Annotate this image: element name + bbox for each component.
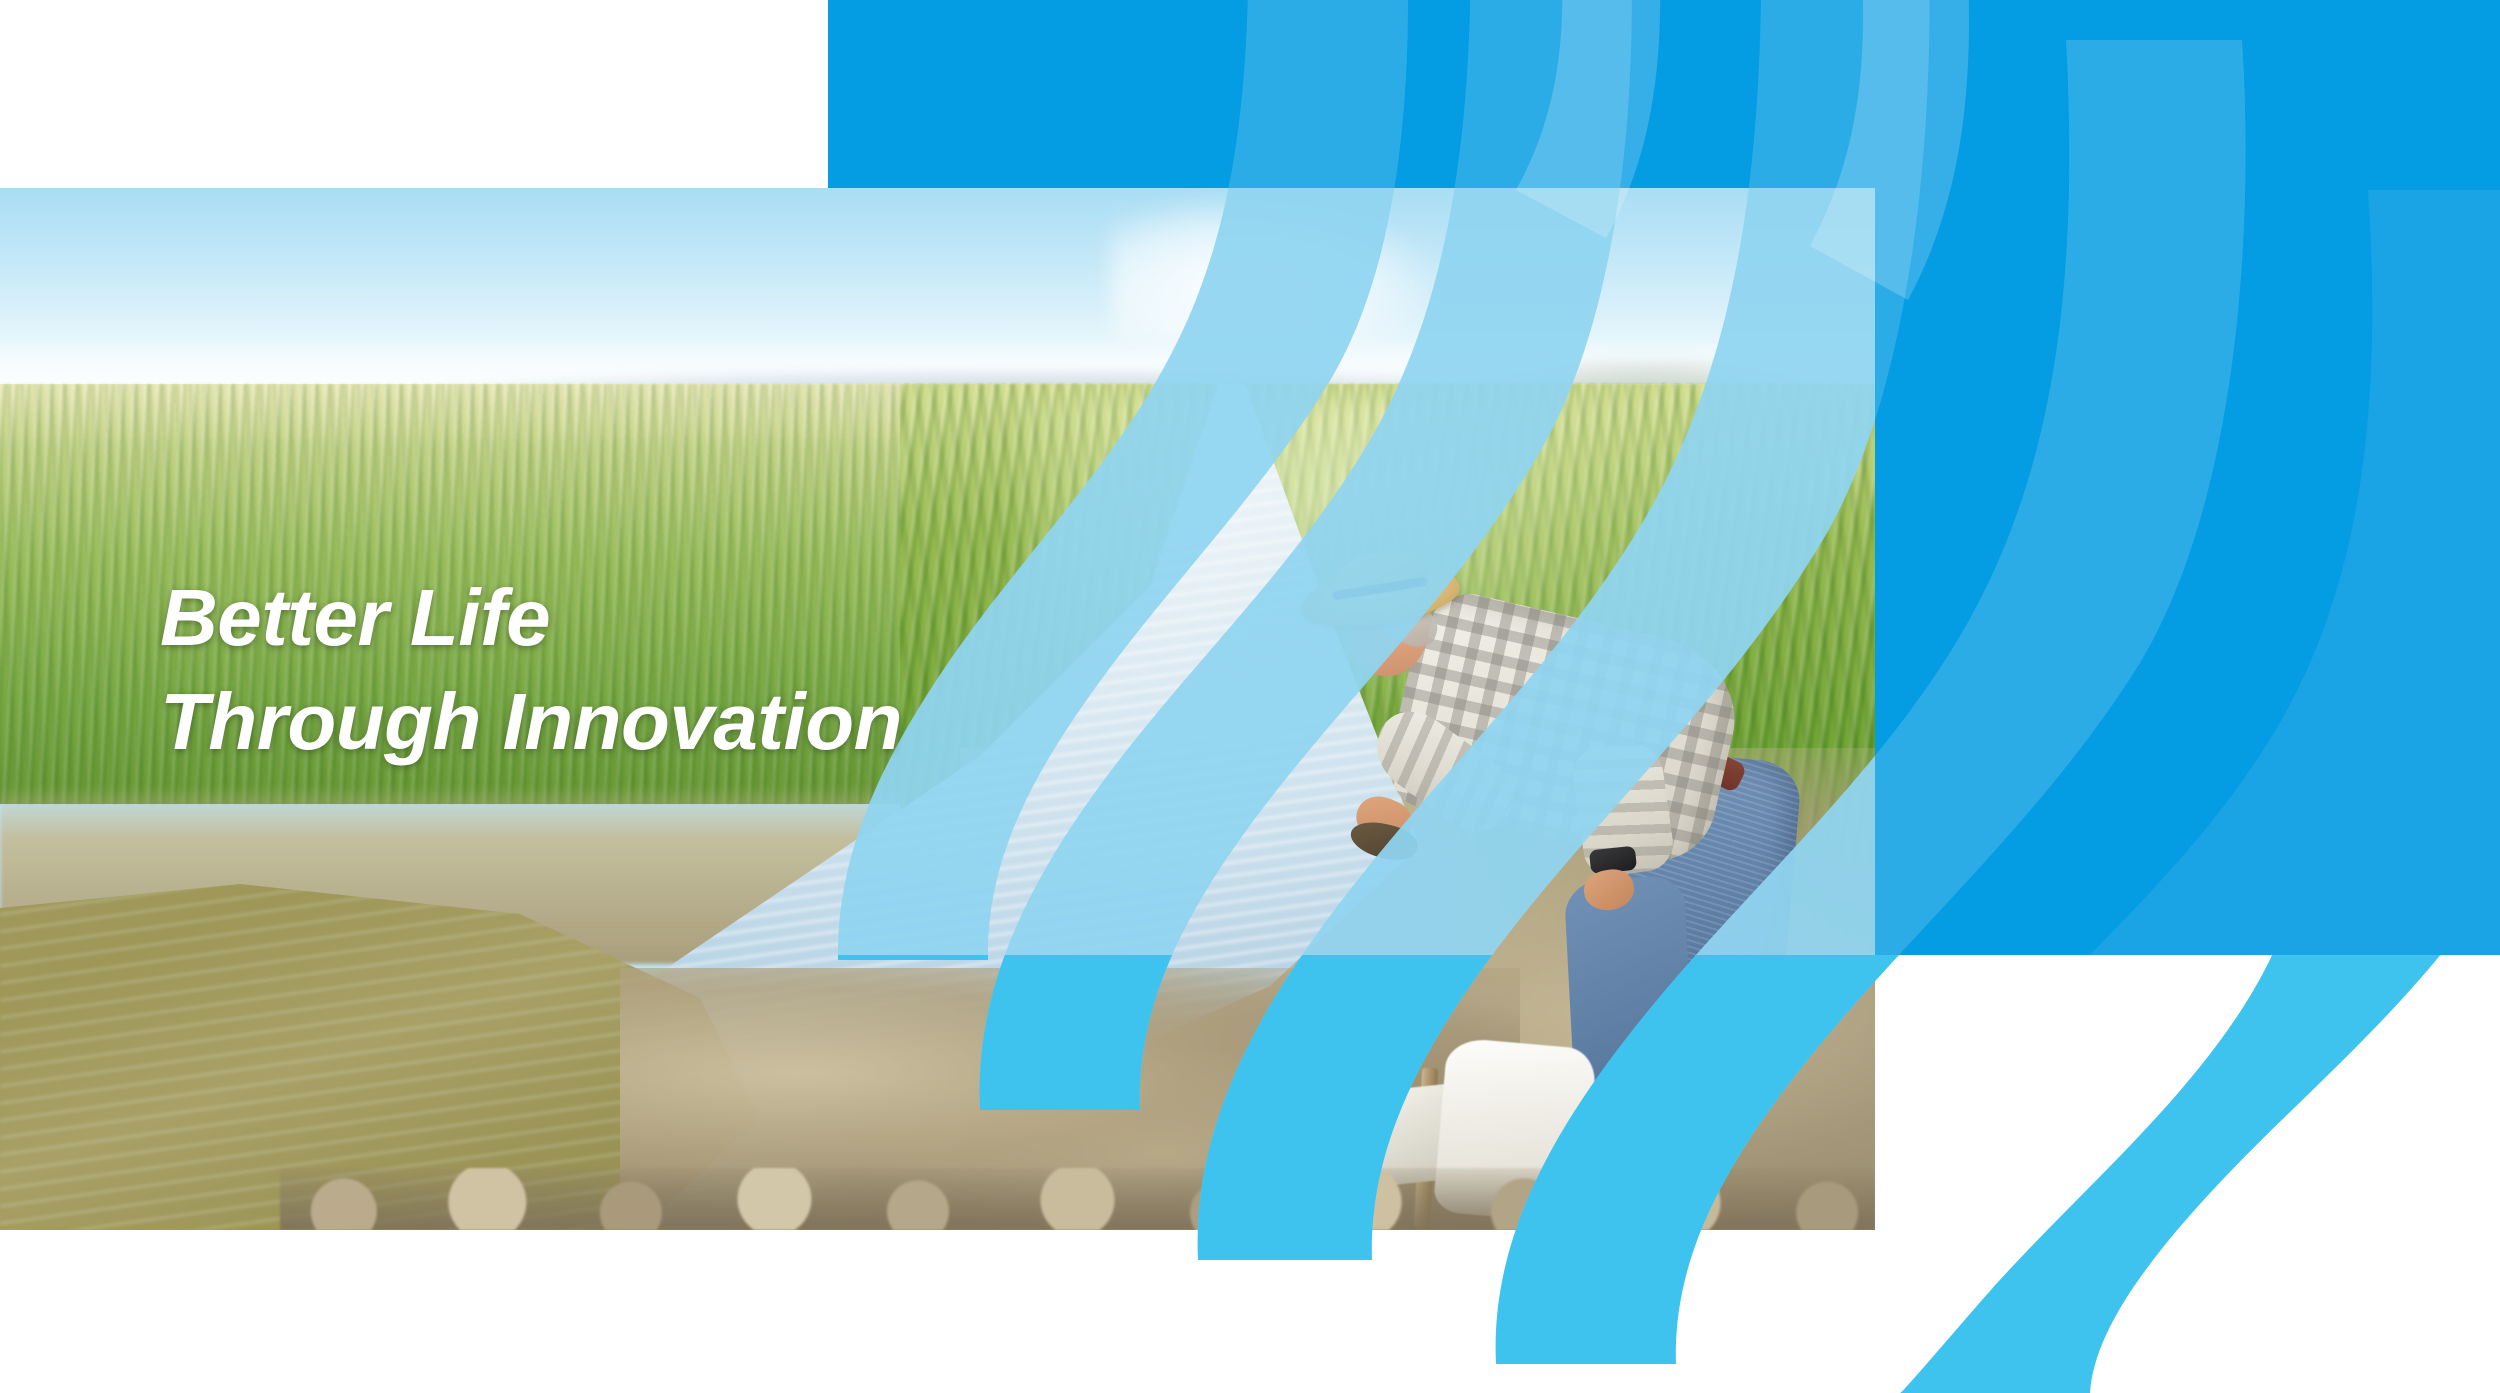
farmer-boot-right — [1665, 1066, 1742, 1167]
slide-canvas: Better Life Through Innovation — [0, 0, 2500, 1393]
headline-line-2: Through Innovation — [160, 682, 1060, 762]
cloud — [1110, 194, 1440, 344]
headline-line-1: Better Life — [160, 578, 1060, 658]
dirt-clods-foreground — [280, 1168, 1875, 1230]
page-title: Better Life Through Innovation — [160, 578, 1060, 762]
